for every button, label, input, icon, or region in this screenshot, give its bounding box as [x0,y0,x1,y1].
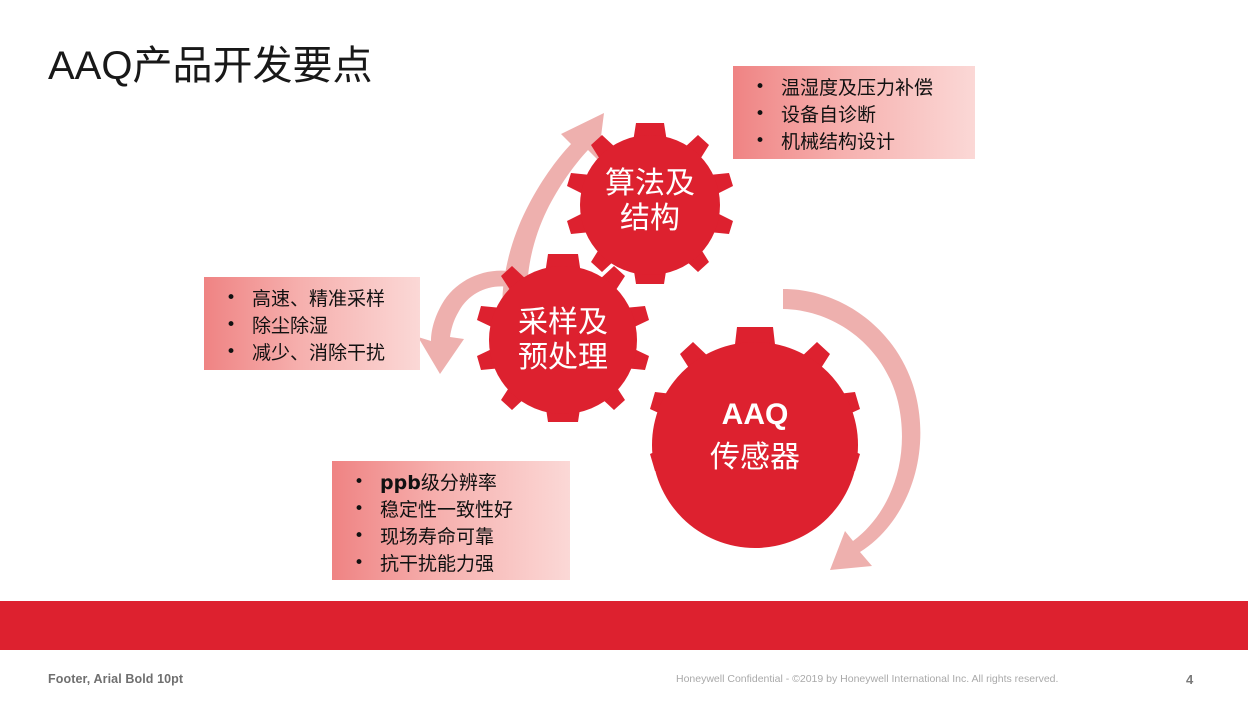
list-item: 减少、消除干扰 [218,340,410,367]
list-item: 稳定性一致性好 [346,497,560,524]
list-item: 现场寿命可靠 [346,524,560,551]
callout-top-right: 温湿度及压力补偿 设备自诊断 机械结构设计 [733,66,975,159]
footer-confidentiality-notice: Honeywell Confidential - ©2019 by Honeyw… [676,673,1058,685]
callout-bottom-list: ppb级分辨率 稳定性一致性好 现场寿命可靠 抗干扰能力强 [346,470,560,578]
list-item-text: 稳定性一致性好 [380,499,513,521]
callout-bottom: ppb级分辨率 稳定性一致性好 现场寿命可靠 抗干扰能力强 [332,461,570,580]
callout-left-list: 高速、精准采样 除尘除湿 减少、消除干扰 [218,286,410,367]
list-item-strong: ppb [380,472,421,494]
gear-aaq-sensor [650,327,860,548]
list-item: 温湿度及压力补偿 [747,75,965,102]
list-item: 抗干扰能力强 [346,551,560,578]
list-item: 机械结构设计 [747,129,965,156]
slide-canvas: AAQ产品开发要点 [0,0,1248,702]
callout-left: 高速、精准采样 除尘除湿 减少、消除干扰 [204,277,420,370]
brand-bar [0,601,1248,650]
list-item-text: 现场寿命可靠 [380,526,494,548]
footer-page-number: 4 [1186,672,1193,687]
gear-cycle-diagram [0,0,1248,600]
footer-left-text: Footer, Arial Bold 10pt [48,672,183,686]
list-item: ppb级分辨率 [346,470,560,497]
list-item-text: 级分辨率 [421,472,497,494]
list-item: 高速、精准采样 [218,286,410,313]
list-item-text: 抗干扰能力强 [380,553,494,575]
callout-top-right-list: 温湿度及压力补偿 设备自诊断 机械结构设计 [747,75,965,156]
list-item: 除尘除湿 [218,313,410,340]
list-item: 设备自诊断 [747,102,965,129]
